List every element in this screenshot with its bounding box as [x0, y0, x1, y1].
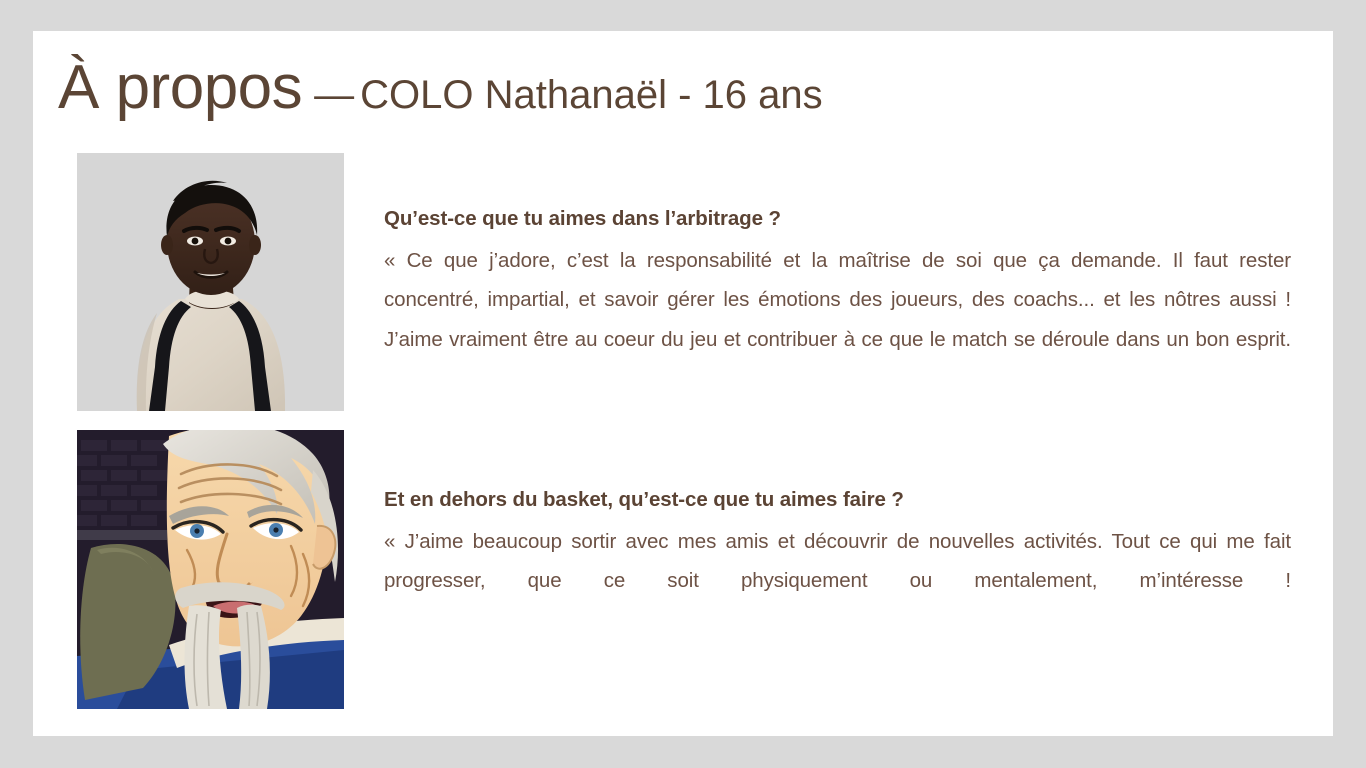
qa-block-arbitrage: Qu’est-ce que tu aimes dans l’arbitrage … — [384, 206, 1291, 400]
anime-still-graphic — [77, 430, 344, 709]
qa-question: Qu’est-ce que tu aimes dans l’arbitrage … — [384, 206, 1291, 232]
title-separator-dash: — — [302, 73, 360, 117]
portrait-photo-graphic — [77, 153, 344, 411]
slide-card: À propos—COLO Nathanaël - 16 ans — [33, 31, 1333, 736]
qa-question: Et en dehors du basket, qu’est-ce que tu… — [384, 487, 1291, 513]
page-title-subtitle: COLO Nathanaël - 16 ans — [360, 73, 822, 117]
portrait-photo — [77, 153, 344, 411]
qa-answer: « J’aime beaucoup sortir avec mes amis e… — [384, 522, 1291, 641]
anime-still — [77, 430, 344, 709]
qa-block-hors-basket: Et en dehors du basket, qu’est-ce que tu… — [384, 487, 1291, 641]
qa-answer: « Ce que j’adore, c’est la responsabilit… — [384, 241, 1291, 400]
page-title-main: À propos — [58, 53, 302, 122]
page-title: À propos—COLO Nathanaël - 16 ans — [58, 57, 1298, 137]
